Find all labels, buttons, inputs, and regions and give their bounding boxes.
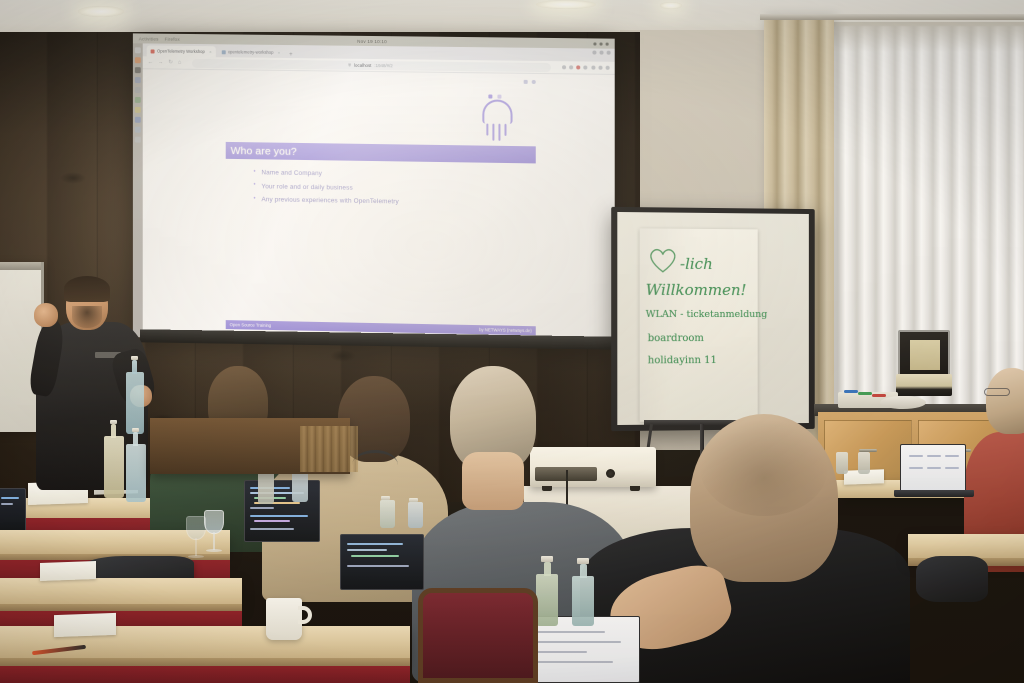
power-icon (606, 42, 609, 45)
glass-foot (188, 555, 204, 558)
curtain-rod (760, 14, 1024, 20)
reload-button[interactable]: ↻ (168, 60, 173, 66)
slide-bullet: Your role and or daily business (253, 183, 398, 192)
toolbar-extensions[interactable] (562, 65, 610, 70)
tab-title: opentelemetry-workshop (228, 49, 273, 55)
browser-tab-active[interactable]: OpenTelemetry Workshop × (147, 45, 216, 57)
slide-title: Who are you? (231, 144, 297, 157)
laptop-screen[interactable] (244, 480, 320, 542)
bottle-neck (133, 432, 138, 446)
projector-lens (606, 469, 615, 478)
files-icon[interactable] (135, 47, 140, 53)
close-icon[interactable]: × (209, 49, 211, 54)
bottle-cap (132, 428, 139, 432)
training-room-photo: Activities Firefox Nov 19 10:10 (0, 0, 1024, 683)
chair-back (418, 588, 538, 683)
slide-bullet-list: Name and Company Your role and or daily … (253, 169, 398, 212)
extension-icon[interactable] (569, 65, 573, 69)
firefox-icon[interactable] (135, 57, 140, 63)
bottle (572, 576, 594, 626)
bottle-cap (131, 356, 138, 360)
volume-icon (600, 42, 603, 45)
head-shading (700, 420, 828, 516)
calculator-icon[interactable] (135, 97, 140, 103)
extension-icon[interactable] (584, 65, 588, 69)
bottle-cap (541, 556, 553, 562)
marker-pen (858, 392, 872, 395)
bottle (858, 452, 870, 474)
name-card (54, 613, 116, 637)
window-controls[interactable] (592, 50, 610, 54)
browser-tab-inactive[interactable]: opentelemetry-workshop × (217, 46, 284, 58)
heart-outline-icon (647, 246, 679, 274)
bookmark-icon[interactable] (591, 66, 595, 70)
glass-stem (213, 532, 215, 550)
minimize-icon[interactable] (592, 50, 596, 54)
slide-title-band: Who are you? (226, 142, 536, 164)
lanyard (352, 450, 398, 480)
water-glass (204, 510, 224, 534)
hamburger-menu-icon[interactable] (606, 66, 610, 70)
desktop-dock[interactable] (133, 43, 143, 337)
bottle (836, 452, 848, 474)
tab-favicon (221, 50, 225, 54)
presenter-fist (34, 303, 58, 327)
laptop-screen[interactable] (0, 488, 26, 534)
firefox-window: OpenTelemetry Workshop × opentelemetry-w… (143, 43, 615, 347)
settings-icon[interactable] (135, 87, 140, 93)
water-glass (186, 516, 206, 540)
bottle (292, 472, 308, 502)
bottle-neck (111, 424, 116, 438)
bottle (380, 500, 395, 528)
bag (916, 556, 988, 602)
ceiling-light (78, 6, 124, 17)
paper-cup (266, 598, 302, 640)
flipchart-line-4: boardroom (648, 333, 704, 344)
laptop-screen[interactable] (900, 444, 966, 492)
presentation-slide: Who are you? Name and Company Your role … (143, 69, 615, 347)
laptop-base (894, 490, 974, 497)
slide-bullet: Any previous experiences with OpenTeleme… (253, 196, 398, 205)
glass-stem (195, 538, 197, 556)
slide-controls[interactable] (524, 80, 536, 84)
extension-icon[interactable] (562, 65, 566, 69)
glasses-icon (984, 388, 1010, 396)
store-icon[interactable] (135, 117, 140, 123)
bottle-cap (381, 496, 390, 500)
bottle-cap (409, 498, 418, 502)
flipchart-line-5: holidayinn 11 (648, 355, 717, 366)
tab-favicon (151, 49, 155, 53)
overview-icon[interactable] (532, 80, 536, 84)
maximize-icon[interactable] (600, 51, 604, 55)
bottle-neck (580, 564, 587, 578)
attendee-head (986, 368, 1024, 434)
cup-handle (298, 606, 312, 624)
back-button[interactable]: ← (148, 59, 153, 65)
tablecloth (0, 666, 410, 683)
text-editor-icon[interactable] (135, 77, 140, 83)
marker-pen (872, 394, 886, 397)
close-icon[interactable] (607, 51, 611, 55)
terminal-icon[interactable] (135, 67, 140, 73)
close-icon[interactable]: × (278, 50, 280, 55)
forward-button[interactable]: → (158, 59, 163, 65)
ceiling-light (536, 0, 596, 9)
activities-button[interactable]: Activities (139, 36, 159, 41)
laptop-screen[interactable] (340, 534, 424, 590)
url-path: :1948/#/2 (374, 63, 392, 68)
curtain-shadow (826, 22, 1024, 52)
network-icon (593, 42, 596, 45)
bottle (126, 444, 146, 502)
bottle (408, 502, 423, 528)
account-icon[interactable] (598, 66, 602, 70)
bottle-neck (132, 360, 137, 374)
app-menu-firefox[interactable]: Firefox (165, 36, 180, 41)
shield-icon: ⛨ (348, 62, 351, 67)
bottle-cap (577, 558, 589, 564)
glass-foot (206, 549, 222, 552)
opentelemetry-logo (475, 95, 519, 140)
slide-footer-left: Open Source Training (230, 322, 271, 328)
flipchart-paper: -lich Willkommen! WLAN - ticketanmeldung… (640, 228, 758, 421)
bottle-neck (544, 562, 551, 576)
home-button[interactable]: ⌂ (178, 60, 181, 66)
marker-pen (844, 390, 858, 393)
flipchart-line-1: -lich (680, 255, 713, 273)
trash-icon[interactable] (135, 137, 140, 143)
projection-screen: Activities Firefox Nov 19 10:10 (133, 33, 615, 347)
presenter-hair (64, 276, 110, 302)
serving-plate (880, 396, 926, 409)
slide-footer-right: by NETWAYS (netways.de) (479, 327, 532, 333)
bottle (104, 436, 124, 498)
tab-title: OpenTelemetry Workshop (157, 49, 205, 55)
flipchart-line-2: Willkommen! (646, 281, 747, 299)
bottle (536, 574, 558, 626)
fullscreen-icon[interactable] (524, 80, 528, 84)
extension-icon[interactable] (576, 65, 580, 69)
url-host: localhost (354, 62, 371, 67)
bottle (258, 470, 274, 504)
help-icon[interactable] (135, 127, 140, 133)
chest-ornament (300, 426, 358, 472)
flipchart-line-3: WLAN - ticketanmeldung (646, 309, 768, 320)
bottle-cap (110, 420, 117, 424)
name-card (40, 561, 96, 581)
attendee-neck (462, 452, 524, 510)
presenter-beard (72, 306, 102, 328)
water-bottle (126, 372, 144, 434)
system-tray[interactable] (593, 42, 608, 45)
mail-icon[interactable] (135, 107, 140, 113)
ceiling-light (660, 2, 682, 9)
slide-bullet: Name and Company (253, 169, 398, 178)
system-clock[interactable]: Nov 19 10:10 (357, 38, 387, 43)
flipchart: -lich Willkommen! WLAN - ticketanmeldung… (611, 207, 815, 431)
